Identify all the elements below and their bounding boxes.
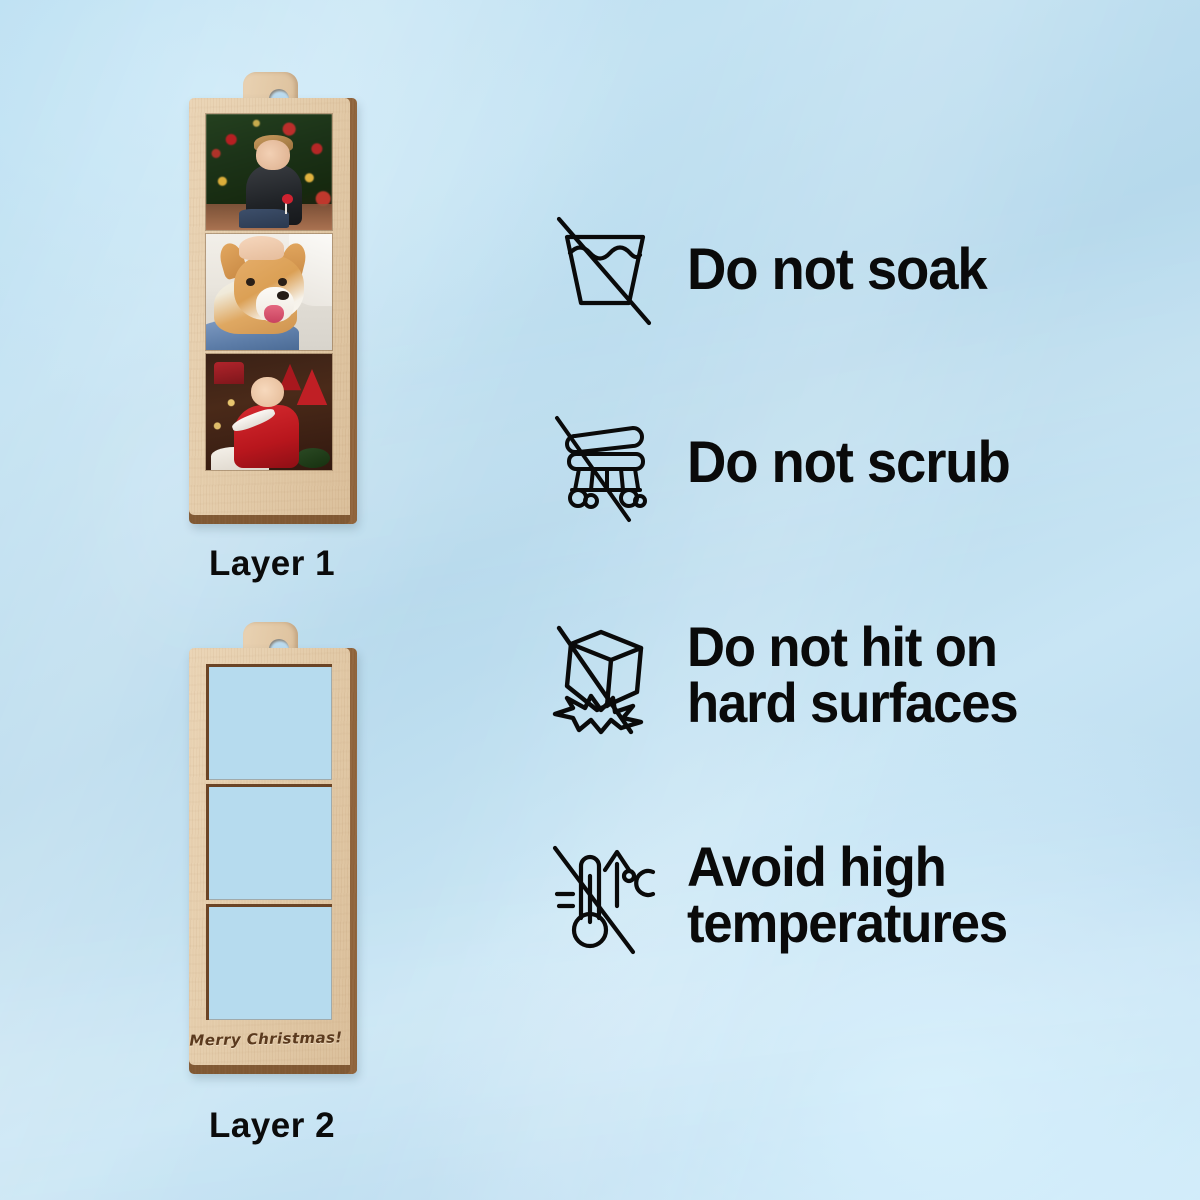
care-instruction-label: Do not scrub <box>687 435 1010 492</box>
boy-face <box>256 140 290 170</box>
no-impact-icon <box>545 610 665 740</box>
no-soak-icon <box>545 205 665 335</box>
girl-face <box>251 377 284 407</box>
care-instruction-row: Avoid high temperatures <box>545 830 1027 960</box>
photo-window-cutout <box>206 784 332 900</box>
photo-window-cutout <box>206 664 332 780</box>
layer-2-plaque: Merry Christmas! <box>186 622 366 1082</box>
petting-hand <box>239 236 284 259</box>
layer-1-plaque <box>186 72 366 532</box>
engraved-message: Merry Christmas! <box>189 1028 343 1049</box>
girl-santa-dress-photo <box>206 354 332 470</box>
no-high-temp-icon <box>545 830 665 960</box>
care-instruction-graphic: Layer 1 Merry Christmas! Layer 2 <box>0 0 1200 1200</box>
red-tree <box>297 369 327 405</box>
care-instruction-row: Do not soak <box>545 205 1006 335</box>
boy-christmas-tree-photo <box>206 114 332 230</box>
boy-jeans <box>239 209 289 228</box>
care-instructions-column: Do not soak <box>545 0 1200 1200</box>
care-instruction-label: Avoid high temperatures <box>687 839 1007 951</box>
lollipop-stick <box>285 203 287 213</box>
wreath <box>296 448 330 468</box>
layer-2-caption: Layer 2 <box>0 1108 520 1143</box>
no-scrub-icon <box>545 398 665 528</box>
dog-eye-right <box>278 278 287 286</box>
care-instruction-row: Do not scrub <box>545 398 1030 528</box>
photo-window-cutout <box>206 904 332 1020</box>
care-instruction-label: Do not soak <box>687 242 987 299</box>
corgi-dog-photo <box>206 234 332 350</box>
red-lamp <box>214 362 244 384</box>
layer-1-caption: Layer 1 <box>0 546 520 581</box>
product-layers-column: Layer 1 Merry Christmas! Layer 2 <box>0 0 520 1200</box>
care-instruction-row: Do not hit on hard surfaces <box>545 610 1039 740</box>
wooden-board <box>189 98 357 524</box>
wooden-frame-board: Merry Christmas! <box>189 648 357 1074</box>
care-instruction-label: Do not hit on hard surfaces <box>687 619 1018 731</box>
